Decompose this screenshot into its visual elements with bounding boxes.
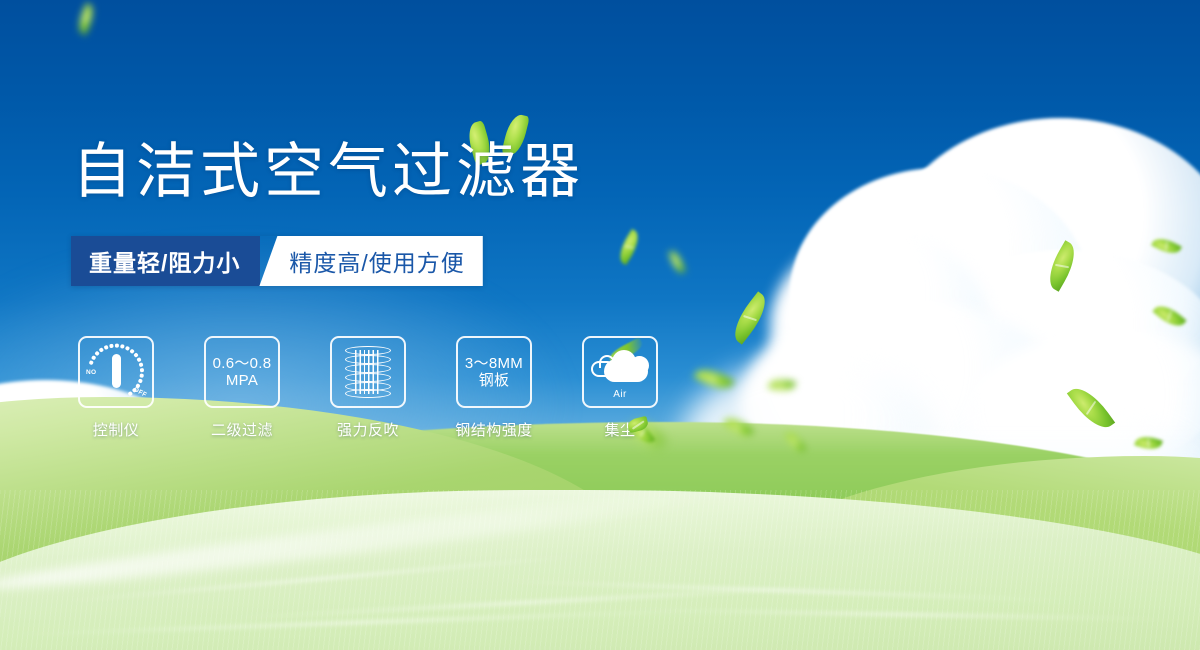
feature-label: 钢结构强度 xyxy=(455,419,533,440)
filter-stack-icon xyxy=(345,346,391,398)
filter-ring xyxy=(345,389,391,398)
gauge-dial-icon: NO OFF xyxy=(87,345,145,399)
filter-ring xyxy=(345,364,391,373)
feature-icon-box: NO OFF xyxy=(78,336,154,408)
feature-list: NO OFF 控制仪 0.6～0.8 MPA 二级过滤 xyxy=(78,336,658,440)
feature-item-steel-strength[interactable]: 3～8MM 钢板 钢结构强度 xyxy=(456,336,532,440)
cloud-puff xyxy=(630,356,649,375)
feature-label: 二级过滤 xyxy=(211,419,273,440)
page-title: 自洁式空气过滤器 xyxy=(72,142,584,202)
product-hero-banner: 自洁式空气过滤器 重量轻/阻力小 精度高/使用方便 xyxy=(0,0,1200,650)
feature-icon-box: 3～8MM 钢板 xyxy=(456,336,532,408)
feature-icon-box: 0.6～0.8 MPA xyxy=(204,336,280,408)
feature-label: 控制仪 xyxy=(93,419,140,440)
feature-label: 强力反吹 xyxy=(337,419,399,440)
feature-item-control-unit[interactable]: NO OFF 控制仪 xyxy=(78,336,154,440)
subtitle-badge-primary: 重量轻/阻力小 xyxy=(71,236,260,286)
air-cloud-icon: Air xyxy=(590,347,650,397)
steel-plate-icon: 3～8MM 钢板 xyxy=(465,355,523,390)
feature-item-backflush[interactable]: 强力反吹 xyxy=(330,336,406,440)
gauge-needle xyxy=(112,354,121,388)
subtitle-badge-secondary: 精度高/使用方便 xyxy=(259,236,482,286)
gauge-label-off: OFF xyxy=(132,386,148,399)
pressure-value-icon: 0.6～0.8 MPA xyxy=(213,355,272,390)
cloud-small xyxy=(591,361,615,377)
gauge-label-on: NO xyxy=(86,369,96,376)
feature-item-two-stage-filter[interactable]: 0.6～0.8 MPA 二级过滤 xyxy=(204,336,280,440)
feature-icon-box: Air xyxy=(582,336,658,408)
filter-ring xyxy=(345,355,391,364)
air-label: Air xyxy=(590,389,650,400)
filter-ring xyxy=(345,373,391,382)
subtitle-badge-bar: 重量轻/阻力小 精度高/使用方便 xyxy=(71,236,483,286)
filter-ring xyxy=(345,346,391,355)
feature-icon-box xyxy=(330,336,406,408)
